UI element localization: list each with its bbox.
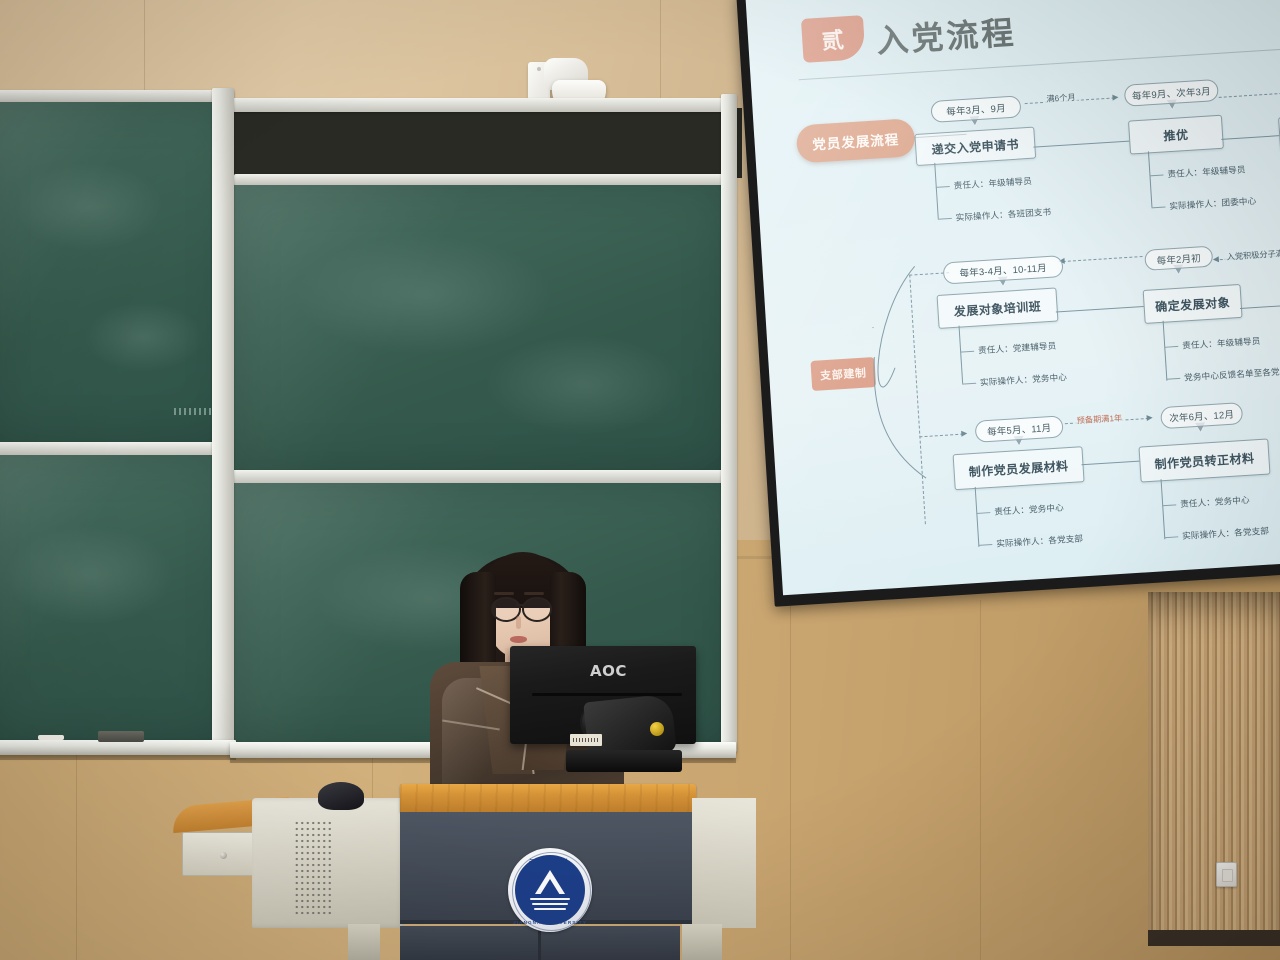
monitor-brand-label: AOC <box>590 662 627 680</box>
projection-screen: 贰 入党流程 党员发展流程 每年3月、9月 递交入党申请书 责任人：年级辅导员 … <box>736 0 1280 611</box>
nose <box>516 616 521 629</box>
board-frame-mid <box>0 442 234 455</box>
wall-panel-line <box>790 600 791 960</box>
flow-detail-r3c2-0: 责任人：党务中心 <box>1180 494 1250 510</box>
flow-line <box>1221 135 1279 140</box>
board-frame-top <box>0 90 234 102</box>
flow-detail-r3c2-1: 实际操作人：各党支部 <box>1182 525 1270 542</box>
flow-brace-tick <box>962 383 976 385</box>
flow-arrowhead <box>1112 94 1118 100</box>
flow-arrow-label-r2-2: 入党积极分子满1年 <box>1224 246 1280 263</box>
speaker-grille <box>294 820 334 916</box>
lecture-hall-photo: 贰 入党流程 党员发展流程 每年3月、9月 递交入党申请书 责任人：年级辅导员 … <box>0 0 1280 960</box>
flow-brace <box>934 163 939 219</box>
flow-detail-r2c2-0: 责任人：年级辅导员 <box>1182 335 1261 352</box>
flow-detail-r1c1-0: 责任人：年级辅导员 <box>953 175 1032 192</box>
microphone-pod[interactable] <box>318 782 364 810</box>
flow-detail-r2c1-1: 实际操作人：党务中心 <box>980 371 1068 388</box>
flow-brace-tick <box>1166 378 1180 380</box>
lectern-right-panel <box>692 798 756 928</box>
flow-brace-tick <box>936 186 950 188</box>
flow-brace <box>959 326 964 384</box>
flow-detail-r2c1-0: 责任人：党建辅导员 <box>978 340 1057 357</box>
flow-arrow-r2-1 <box>1063 256 1143 262</box>
chalk-tray-shadow <box>0 755 236 760</box>
flow-line <box>1033 141 1129 148</box>
monitor-vent <box>532 693 682 696</box>
glasses-lens-right <box>522 597 552 622</box>
flow-bubble-r1c1: 每年3月、9月 <box>930 95 1021 123</box>
flow-brace <box>1161 479 1166 539</box>
flow-line <box>1056 306 1144 313</box>
glasses-bridge <box>516 604 524 606</box>
flow-node-r1c1: 递交入党申请书 <box>914 127 1036 166</box>
board-divider-rail <box>212 88 234 748</box>
lectern-wood-top <box>400 784 696 812</box>
board-right-rail <box>721 94 737 752</box>
board-frame-mid <box>230 470 730 483</box>
flow-node-r2c1: 发展对象培训班 <box>937 287 1059 328</box>
flow-detail-r1c2-0: 责任人：年级辅导员 <box>1167 163 1246 180</box>
flow-node-r2c2: 确定发展对象 <box>1143 284 1243 324</box>
chalk-stick[interactable] <box>38 735 64 740</box>
flow-arrowhead <box>1146 414 1152 420</box>
board-frame-top <box>230 98 730 112</box>
flow-bubble-r2c2: 每年2月初 <box>1144 246 1213 271</box>
seal-inner-triangle-icon <box>540 879 560 895</box>
computer-monitor: AOC <box>508 646 704 782</box>
flow-arrowhead <box>1213 256 1219 262</box>
flow-arrow-label-r3-1: 预备期满1年 <box>1074 411 1124 426</box>
eyebrow-left <box>494 592 514 595</box>
lectern-base-right <box>682 924 722 960</box>
flow-bubble-r3c1: 每年5月、11月 <box>975 415 1064 442</box>
flow-node-r3c1: 制作党员发展材料 <box>953 446 1085 490</box>
flow-detail-r1c1-1: 实际操作人：各班团支书 <box>955 206 1051 224</box>
wall-switch[interactable] <box>1216 862 1237 887</box>
flowchart: 党员发展流程 每年3月、9月 递交入党申请书 责任人：年级辅导员 实际操作人：各… <box>745 0 1280 595</box>
flow-brace-tick <box>976 512 990 514</box>
flow-detail-r1c2-1: 实际操作人：团委中心 <box>1169 195 1257 212</box>
eyebrow-right <box>524 592 544 595</box>
chalkboard-panel-left-upper <box>0 102 232 442</box>
flow-node-r3c2: 制作党员转正材料 <box>1138 438 1270 482</box>
flow-brace-tick <box>1149 175 1163 177</box>
flow-brace <box>975 487 980 547</box>
flow-brace-tick <box>1151 206 1165 208</box>
flow-node-r1c2: 推优 <box>1128 115 1224 155</box>
flow-brace-tick <box>938 218 952 220</box>
flow-bubble-r2c1: 每年3-4月、10-11月 <box>943 255 1064 284</box>
mouth <box>510 636 527 643</box>
flow-brace-tick <box>960 351 974 353</box>
flow-brace-tick <box>1162 504 1176 506</box>
flow-brace-tick <box>1164 536 1178 538</box>
flow-bubble-r3c2: 次年6月、12月 <box>1160 402 1243 429</box>
flow-detail-r3c1-1: 实际操作人：各党支部 <box>996 532 1084 549</box>
slatted-acoustic-panel <box>1148 592 1280 940</box>
chalk-tray-left <box>0 740 236 755</box>
flow-brace <box>1148 151 1153 207</box>
blackboard-eraser[interactable] <box>98 731 144 742</box>
wall-panel-line <box>980 600 981 960</box>
flow-arrow-label-r1-1: 满6个月 <box>1044 91 1078 105</box>
flow-detail-r3c1-0: 责任人：党务中心 <box>994 501 1064 517</box>
chalkboard-panel-left-lower <box>0 455 232 745</box>
flow-line <box>1240 305 1280 309</box>
flow-arrowhead <box>961 430 967 436</box>
flow-brace <box>1163 321 1168 381</box>
board-recess <box>230 108 742 178</box>
chalkboard-panel-right-upper <box>234 185 728 470</box>
slat-baseboard <box>1148 930 1280 946</box>
lectern-base-left <box>348 924 380 960</box>
lectern <box>176 776 756 960</box>
flow-detail-r2c2-1: 党务中心反馈名单至各党支部 <box>1184 365 1280 384</box>
monitor-asset-sticker <box>570 734 602 746</box>
flow-root-node: 党员发展流程 <box>796 118 916 163</box>
board-frame-upper-rail <box>234 174 730 185</box>
flow-line <box>1081 461 1139 466</box>
monitor-base <box>566 750 682 772</box>
presentation-slide: 贰 入党流程 党员发展流程 每年3月、9月 递交入党申请书 责任人：年级辅导员 … <box>745 0 1280 595</box>
flow-brace-tick <box>978 544 992 546</box>
lectern-drawer-knob[interactable] <box>220 852 227 859</box>
flow-bubble-r1c2: 每年9月、次年3月 <box>1124 79 1219 107</box>
monitor-arm-knob[interactable] <box>650 722 664 736</box>
flow-arrow-r1-2 <box>1219 92 1280 98</box>
flow-brace-tick <box>1164 346 1178 348</box>
university-seal-logo: 江南大学 JIANGNAN UNIVERSITY <box>508 848 592 932</box>
flow-curve-branch <box>854 258 940 512</box>
